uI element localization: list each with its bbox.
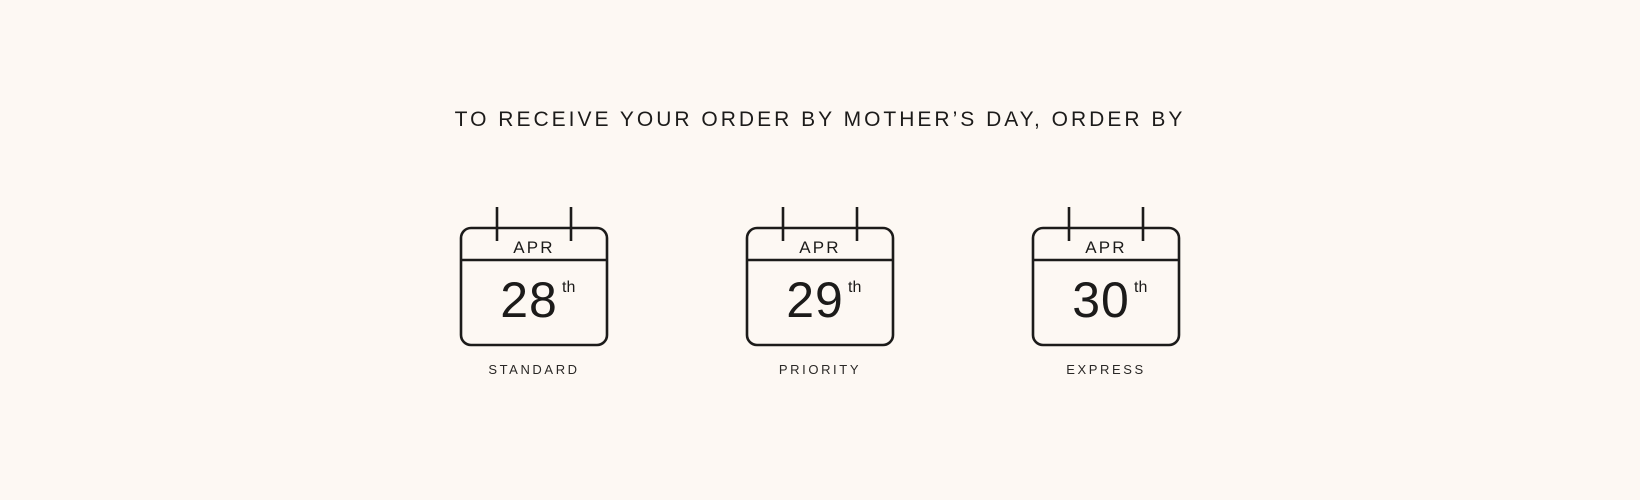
calendar-icon: APR 29 th <box>735 203 905 351</box>
shipping-deadline-list: APR 28 th STANDARD APR 29 <box>0 203 1640 377</box>
calendar-month: APR <box>799 238 841 257</box>
calendar-day-suffix: th <box>562 279 575 296</box>
calendar-day-suffix: th <box>1134 279 1147 296</box>
service-label: STANDARD <box>488 362 579 377</box>
shipping-option-standard: APR 28 th STANDARD <box>449 203 619 377</box>
calendar-day: 30 <box>1072 272 1130 328</box>
shipping-option-priority: APR 29 th PRIORITY <box>735 203 905 377</box>
mothers-day-shipping-banner: TO RECEIVE YOUR ORDER BY MOTHER’S DAY, O… <box>0 0 1640 500</box>
calendar-month: APR <box>513 238 555 257</box>
calendar-day: 28 <box>500 272 558 328</box>
calendar-month: APR <box>1085 238 1127 257</box>
service-label: EXPRESS <box>1066 362 1146 377</box>
calendar-day: 29 <box>786 272 844 328</box>
banner-headline: TO RECEIVE YOUR ORDER BY MOTHER’S DAY, O… <box>0 104 1640 136</box>
calendar-day-suffix: th <box>848 279 861 296</box>
service-label: PRIORITY <box>779 362 861 377</box>
calendar-icon: APR 28 th <box>449 203 619 351</box>
calendar-icon: APR 30 th <box>1021 203 1191 351</box>
shipping-option-express: APR 30 th EXPRESS <box>1021 203 1191 377</box>
